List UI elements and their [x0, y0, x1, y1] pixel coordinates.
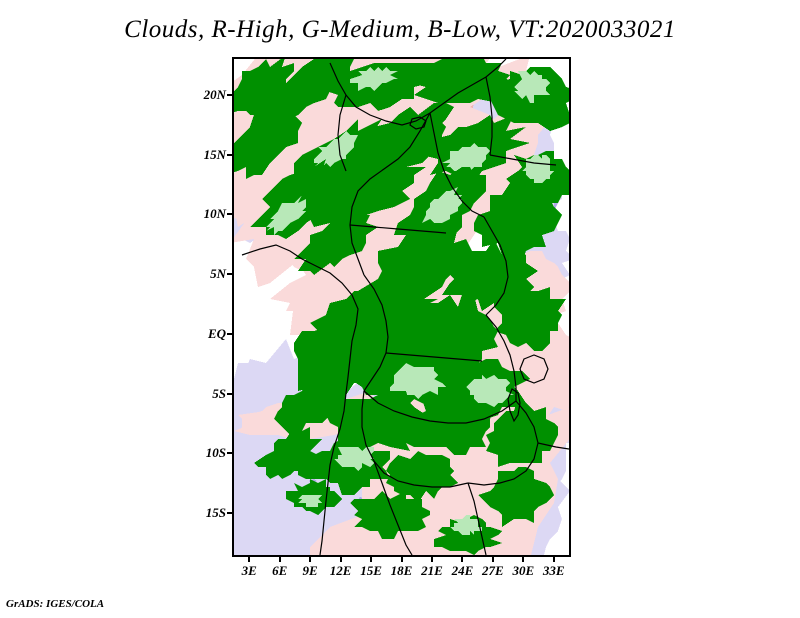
x-axis-tick-mark	[340, 556, 342, 562]
y-axis-tick-mark	[227, 333, 233, 335]
y-axis-tick-mark	[227, 452, 233, 454]
y-axis-tick-mark	[227, 154, 233, 156]
y-axis-tick-label: 10S	[170, 445, 226, 461]
x-axis-tick-mark	[309, 556, 311, 562]
y-axis-tick-mark	[227, 273, 233, 275]
x-axis-tick-mark	[248, 556, 250, 562]
x-axis-tick-mark	[431, 556, 433, 562]
x-axis-tick-label: 33E	[534, 563, 574, 579]
page-title: Clouds, R-High, G-Medium, B-Low, VT:2020…	[0, 16, 800, 44]
x-axis-tick-mark	[522, 556, 524, 562]
y-axis-tick-label: 15N	[170, 147, 226, 163]
y-axis-tick-label: 10N	[170, 206, 226, 222]
y-axis-tick-mark	[227, 393, 233, 395]
x-axis-tick-mark	[370, 556, 372, 562]
screenshot-page: Clouds, R-High, G-Medium, B-Low, VT:2020…	[0, 0, 800, 618]
y-axis-tick-label: 5S	[170, 386, 226, 402]
x-axis-tick-mark	[461, 556, 463, 562]
y-axis-tick-mark	[227, 213, 233, 215]
x-axis-tick-mark	[401, 556, 403, 562]
y-axis-tick-label: 5N	[170, 266, 226, 282]
cloud-composite-image	[234, 59, 569, 555]
y-axis-tick-mark	[227, 94, 233, 96]
x-axis-tick-mark	[492, 556, 494, 562]
map-frame	[232, 57, 571, 557]
y-axis-tick-label: 15S	[170, 505, 226, 521]
x-axis-tick-mark	[279, 556, 281, 562]
y-axis-tick-mark	[227, 512, 233, 514]
generator-credit: GrADS: IGES/COLA	[6, 598, 104, 610]
x-axis-tick-mark	[553, 556, 555, 562]
y-axis-tick-label: EQ	[170, 326, 226, 342]
y-axis-tick-label: 20N	[170, 87, 226, 103]
map-plot-area[interactable]	[232, 57, 571, 557]
